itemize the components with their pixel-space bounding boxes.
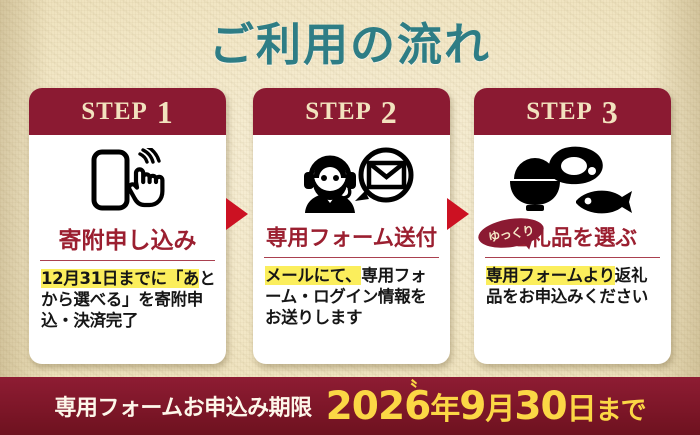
deadline-day: 30 <box>514 387 566 426</box>
step-3-description: 専用フォームより返礼品をお申込みください <box>474 258 671 307</box>
step-2-description: メールにて、専用フォーム・ログイン情報をお送りします <box>253 258 450 328</box>
step-3-divider <box>485 257 660 258</box>
step-2-header-word: STEP <box>305 98 372 126</box>
arrow-step1-to-step2 <box>226 198 248 230</box>
step-3-header-number: 3 <box>602 96 619 128</box>
page-title: ご利用の流れ <box>0 8 700 73</box>
step-1-divider <box>40 260 215 261</box>
emphasis-mark: 〝 <box>396 373 417 402</box>
headset-operator-mail-icon <box>253 135 450 219</box>
step-1-title: 寄附申し込み <box>29 221 226 255</box>
deadline-banner: 専用フォームお申込み期限 〝 2026 年 9 月 30 日 まで <box>0 377 700 435</box>
food-gifts-icon <box>474 135 671 219</box>
step-2-body: 専用フォーム送付 メールにて、専用フォーム・ログイン情報をお送りします <box>253 135 450 364</box>
step-3-header-word: STEP <box>526 98 593 126</box>
step-2-title: 専用フォーム送付 <box>253 221 450 252</box>
step-3-highlight: 専用フォームより <box>486 266 615 285</box>
step-1-body: 寄附申し込み 12月31日までに「あとから選べる」を寄附申込・決済完了 <box>29 135 226 364</box>
step-1-description: 12月31日までに「あとから選べる」を寄附申込・決済完了 <box>29 261 226 331</box>
deadline-month-unit: 月 <box>485 395 514 425</box>
step-2-header-number: 2 <box>381 96 398 128</box>
deadline-suffix: まで <box>596 398 646 424</box>
infographic-root: ご利用の流れ STEP 1 寄附申し込み 12月31日までに「あとから選べる」を… <box>0 0 700 435</box>
step-3-header: STEP 3 <box>474 88 671 135</box>
step-2-highlight: メールにて、 <box>265 266 361 285</box>
smartphone-tap-icon <box>29 135 226 219</box>
step-card-1: STEP 1 寄附申し込み 12月31日までに「あとから選べる」を寄附申込・決済… <box>29 88 226 364</box>
step-1-header-number: 1 <box>157 96 174 128</box>
deadline-month: 9 <box>459 387 485 426</box>
step-1-header-word: STEP <box>81 98 148 126</box>
deadline-day-unit: 日 <box>567 395 596 425</box>
step-card-3: STEP 3 ゆっくり 返礼品を選ぶ <box>474 88 671 364</box>
step-2-header: STEP 2 <box>253 88 450 135</box>
step-1-header: STEP 1 <box>29 88 226 135</box>
step-2-divider <box>264 257 439 258</box>
deadline-year-unit: 年 <box>430 395 459 425</box>
step-3-body: ゆっくり 返礼品を選ぶ 専用フォームより返礼品をお申込みください <box>474 135 671 364</box>
deadline-date: 〝 2026 年 9 月 30 日 まで <box>326 387 646 426</box>
deadline-label: 専用フォームお申込み期限 <box>54 390 311 422</box>
step-card-2: STEP 2 <box>253 88 450 364</box>
step-1-highlight: 12月31日までに「あ <box>41 269 199 288</box>
arrow-step2-to-step3 <box>447 198 469 230</box>
